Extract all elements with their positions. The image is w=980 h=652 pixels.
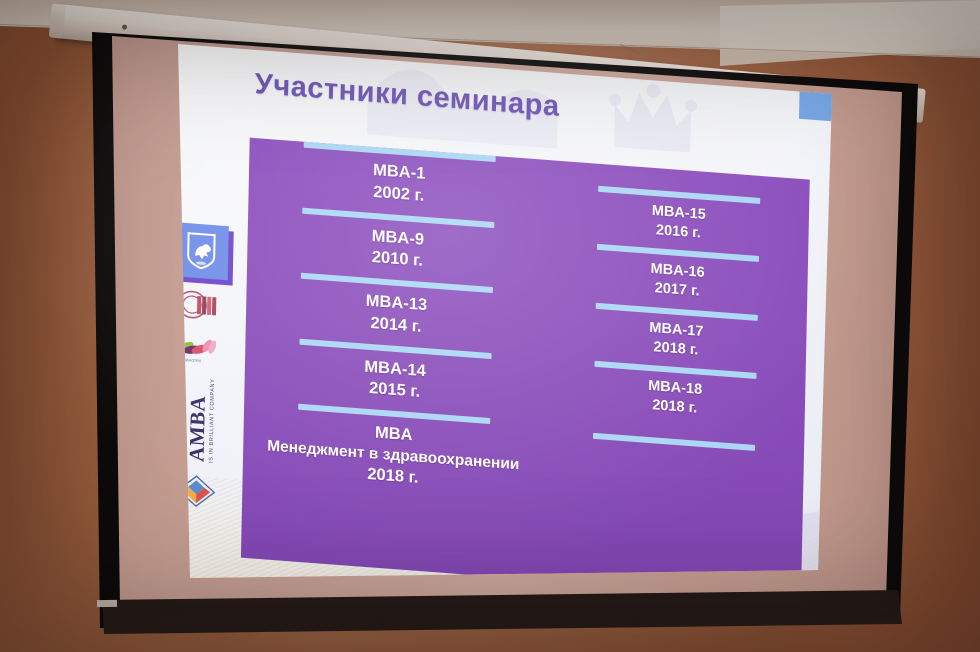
- shield-icon: [186, 231, 217, 271]
- list-item: MBA-16 2017 г.: [557, 247, 798, 317]
- projection-room-photo: Участники семинара MBA-1 2002 г. MBA-9 2…: [0, 0, 980, 652]
- content-panel: MBA-1 2002 г. MBA-9 2010 г. MBA-13 2014 …: [241, 138, 810, 600]
- right-column: MBA-15 2016 г. MBA-16 2017 г. MBA-17 201…: [541, 160, 810, 600]
- crown-watermark-icon: [606, 80, 699, 157]
- amba-sub-text: IS IN BRILLIANT COMPANY: [208, 378, 216, 463]
- amba-label: AMBA: [184, 394, 209, 462]
- svg-text:нанотех: нанотех: [183, 357, 202, 364]
- left-column: MBA-1 2002 г. MBA-9 2010 г. MBA-13 2014 …: [241, 138, 550, 581]
- list-item: MBA Менеджмент в здравоохранении 2018 г.: [252, 407, 534, 508]
- list-item: MBA-18 2018 г.: [554, 364, 795, 434]
- screen-pull-tab[interactable]: [97, 600, 117, 607]
- slide: Участники семинара MBA-1 2002 г. MBA-9 2…: [138, 22, 850, 645]
- list-item: MBA-15 2016 г.: [558, 189, 799, 259]
- list-item: MBA-17 2018 г.: [556, 305, 797, 375]
- divider-line: [593, 433, 755, 451]
- projection-screen: Участники семинара MBA-1 2002 г. MBA-9 2…: [0, 0, 980, 652]
